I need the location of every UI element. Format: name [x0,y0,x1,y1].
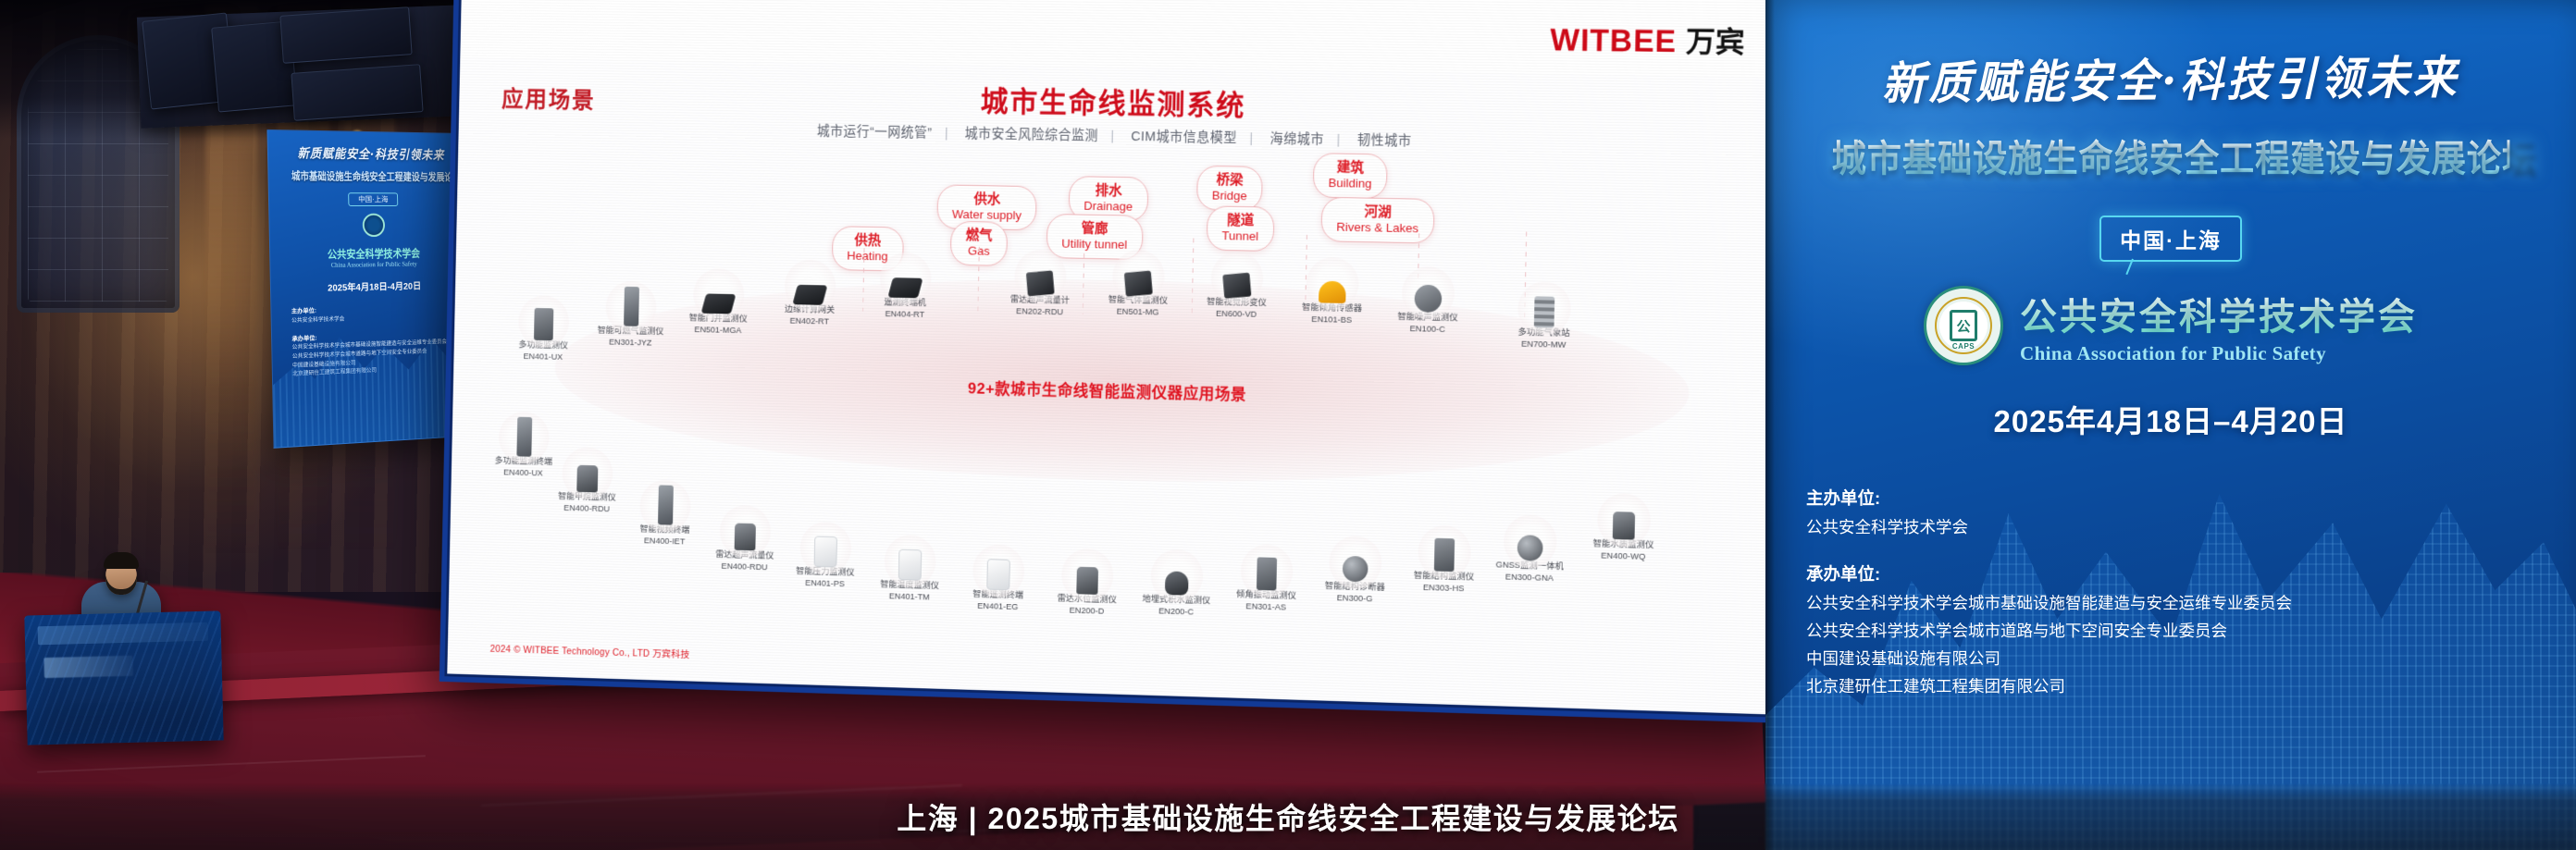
speaker-hair [104,552,139,569]
device-item[interactable]: 智能结构诊断器 EN300-G [1306,531,1405,607]
left-banner-forum-title: 城市基础设施生命线安全工程建设与发展论坛 [291,168,452,184]
coorganizer-item: 公共安全科学技术学会城市基础设施智能建造与安全运维专业委员会 [1806,589,2535,617]
device-item[interactable]: 智能视觉形变仪 EN600-VD [1188,247,1287,322]
coorganizer-item: 北京建研住工建筑工程集团有限公司 [1806,672,2535,700]
device-item[interactable]: 多功能监测仪 EN401-UX [496,291,591,364]
device-image [762,255,859,306]
left-banner-coorganizer-label: 承办单位: [291,335,316,342]
device-item[interactable]: 智能可燃气监测仪 EN301-JYZ [583,277,678,351]
device-model: EN301-JYZ [583,337,677,351]
seal-abbreviation: CAPS [1952,342,1975,351]
left-banner-date: 2025年4月18日-4月20日 [280,277,465,295]
device-image [1574,488,1674,541]
witbee-logo-en: WITBEE [1550,23,1677,60]
subtitle-part: 城市安全风险综合监测 [965,127,1098,143]
device-item[interactable]: 智能气体监测仪 EN501-MG [1089,245,1187,319]
chip-en: Tunnel [1221,228,1258,243]
device-item[interactable]: 智能水质监测仪 EN400-WQ [1574,488,1675,564]
device-item[interactable]: 倾角振动监测仪 EN301-AS [1218,539,1317,614]
device-item[interactable]: 智能门井监测仪 EN501-MGA [671,265,767,339]
device-image [992,245,1089,296]
left-banner-org-cn: 公共安全科学技术学会 [289,245,456,263]
subtitle-separator: | [945,127,948,142]
presentation-slide: WITBEE 万宾 应用场景 城市生命线监测系统 城市运行“一网统管”| 城市安… [444,0,1793,717]
device-item[interactable]: GNSS监测一体机 EN300-GNA [1480,510,1580,585]
event-date: 2025年4月18日–4月20日 [1806,397,2535,441]
coorganizer-item: 中国建设基础设施有限公司 [1806,645,2535,672]
scenario-chip-building[interactable]: 建筑 Building [1313,153,1388,198]
device-image [862,530,959,582]
chip-cn: 管廊 [1061,220,1127,238]
device-image [1379,262,1478,314]
caps-seal-icon: 公 CAPS [1924,286,2003,365]
device-model: EN200-D [1038,605,1134,620]
left-banner-location-chip: 中国·上海 [348,192,398,206]
chip-en: Rivers & Lakes [1336,219,1418,235]
device-item[interactable]: 智能压力监测仪 EN401-PS [777,517,873,592]
device-item[interactable]: 智能遥测终端 EN401-EG [949,540,1046,615]
device-image [671,265,766,315]
left-banner-caps-seal-icon [363,214,386,237]
left-banner-host: 公共安全科学技术学会 [291,316,344,324]
device-image [1395,521,1494,573]
right-panel-calligraphy-title: 新质赋能安全·科技引领未来 [1824,41,2517,114]
chip-cn: 排水 [1084,182,1133,199]
device-model: EN402-RT [762,315,857,329]
device-item[interactable]: 智能噪声监测仪 EN100-C [1379,262,1479,337]
bottom-caption-bar: 上海 | 2025城市基础设施生命线安全工程建设与发展论坛 [0,783,2576,850]
witbee-logo: WITBEE 万宾 [1550,18,1745,62]
scenario-chip-bridge[interactable]: 桥梁 Bridge [1196,166,1263,211]
device-image [1480,510,1580,561]
device-item[interactable]: 边缘计算网关 EN402-RT [762,255,858,329]
left-banner-calligraphy-title: 新质赋能安全·科技引领未来 [285,143,456,164]
chip-cn: 河湖 [1337,203,1419,221]
speaking-podium [24,610,223,745]
device-model: EN202-RDU [992,306,1088,320]
device-model: EN501-MGA [671,325,765,339]
main-led-screen: WITBEE 万宾 应用场景 城市生命线监测系统 城市运行“一网统管”| 城市安… [440,0,1799,723]
podium-nameplate [38,622,208,645]
chip-en: Building [1328,176,1371,191]
host-label: 主办单位: [1806,484,2535,513]
device-item[interactable]: 雷达超声流量计 EN202-RDU [992,245,1089,319]
device-model: EN100-C [1379,323,1477,337]
device-item[interactable]: 智能结构监测仪 EN303-HS [1394,521,1494,597]
conference-stage-photo: 新质赋能安全·科技引领未来 城市基础设施生命线安全工程建设与发展论坛 中国·上海… [0,0,2576,850]
device-image [1307,531,1406,583]
left-banner-coorganizer: 公共安全科学技术学会城市道路与地下空间安全专业委员会 [292,349,427,360]
scenario-chip-rivers-lakes[interactable]: 河湖 Rivers & Lakes [1320,197,1434,243]
caption-text: 上海 | 2025城市基础设施生命线安全工程建设与发展论坛 [897,795,1678,838]
device-image [950,540,1047,592]
coorganizer-group: 承办单位: 公共安全科学技术学会城市基础设施智能建造与安全运维专业委员会 公共安… [1806,560,2535,700]
device-model: EN400-WQ [1574,550,1673,565]
subtitle-separator: | [1336,133,1341,148]
chip-cn: 隧道 [1222,213,1259,229]
device-item[interactable]: 多功能气象站 EN700-MW [1494,277,1594,352]
witbee-logo-cn: 万宾 [1685,18,1744,62]
stage-light-bar [279,6,412,64]
device-image [497,291,591,342]
device-model: EN401-EG [949,600,1046,615]
organizer-name-en: China Association for Public Safety [2020,342,2418,365]
device-image [1128,545,1226,597]
location-chip-wrapper: 中国·上海 [1806,216,2535,262]
device-image [778,517,874,568]
organizer-name-cn: 公共安全科学技术学会 [2020,287,2418,340]
chip-cn: 建筑 [1329,159,1372,176]
device-image [1283,253,1382,304]
device-item[interactable]: 地埋式积水监测仪 EN200-C [1128,545,1226,620]
device-image [1039,544,1136,596]
device-model: EN401-UX [496,351,590,364]
device-model: EN600-VD [1188,308,1285,322]
device-model: EN101-BS [1282,314,1381,327]
right-led-banner-panel: 新质赋能安全·科技引领未来 城市基础设施生命线安全工程建设与发展论坛 中国·上海… [1765,0,2576,850]
device-model: EN700-MW [1494,339,1593,352]
device-model: EN401-TM [861,590,957,604]
device-image [1218,539,1316,591]
slide-copyright-footer: 2024 © WITBEE Technology Co., LTD 万宾科技 [489,642,689,661]
chip-cn: 燃气 [966,228,993,244]
device-image [1188,247,1286,298]
sponsor-block: 主办单位: 公共安全科学技术学会 承办单位: 公共安全科学技术学会城市基础设施智… [1806,484,2535,700]
device-model: EN300-G [1306,592,1404,607]
device-item[interactable]: 雷达水位监测仪 EN200-D [1038,544,1136,619]
chip-cn: 供水 [952,191,1022,208]
organizer-lockup: 公 CAPS 公共安全科学技术学会 China Association for … [1806,286,2535,365]
chip-en: Water supply [952,207,1022,223]
stage-light-bar [291,64,423,121]
device-model: EN303-HS [1394,582,1492,597]
device-image [858,248,954,299]
device-item[interactable]: 遥测终端机 EN404-RT [857,248,954,322]
subtitle-part: 韧性城市 [1357,133,1412,149]
device-model: EN300-GNA [1480,572,1579,586]
organizer-names: 公共安全科学技术学会 China Association for Public … [2020,287,2418,365]
host-group: 主办单位: 公共安全科学技术学会 [1806,484,2535,541]
right-panel-forum-title: 城市基础设施生命线安全工程建设与发展论坛 [1832,129,2510,182]
subtitle-part: 城市运行“一网统管” [817,124,933,141]
chip-en: Bridge [1212,188,1247,203]
device-model: EN301-AS [1218,600,1315,615]
subtitle-part: CIM城市信息模型 [1131,129,1237,146]
seal-glyph: 公 [1950,310,1977,341]
subtitle-part: 海绵城市 [1269,132,1324,148]
podium-logo [43,656,133,678]
chip-en: Drainage [1084,199,1133,215]
left-banner-host-label: 主办单位: [291,308,316,315]
device-model: EN401-PS [777,577,873,591]
scenario-chip-tunnel[interactable]: 隧道 Tunnel [1207,205,1275,251]
right-panel-location-chip: 中国·上海 [2099,216,2242,262]
device-image [1494,277,1594,329]
coorganizer-item: 公共安全科学技术学会城市道路与地下空间安全专业委员会 [1806,617,2535,645]
device-model: EN404-RT [857,308,952,322]
coorganizer-label: 承办单位: [1806,560,2535,589]
chip-cn: 供热 [847,232,888,249]
right-panel-content: 新质赋能安全·科技引领未来 城市基础设施生命线安全工程建设与发展论坛 中国·上海… [1765,0,2576,700]
subtitle-separator: | [1249,131,1253,146]
device-model: EN501-MG [1089,306,1186,320]
device-image [584,277,679,327]
subtitle-separator: | [1110,129,1114,144]
device-item[interactable]: 智能温度监测仪 EN401-TM [861,530,959,605]
device-image [1090,245,1187,296]
host-item: 公共安全科学技术学会 [1806,513,2535,541]
chip-cn: 桥梁 [1212,172,1247,189]
device-item[interactable]: 智能倾角传感器 EN101-BS [1282,253,1381,327]
